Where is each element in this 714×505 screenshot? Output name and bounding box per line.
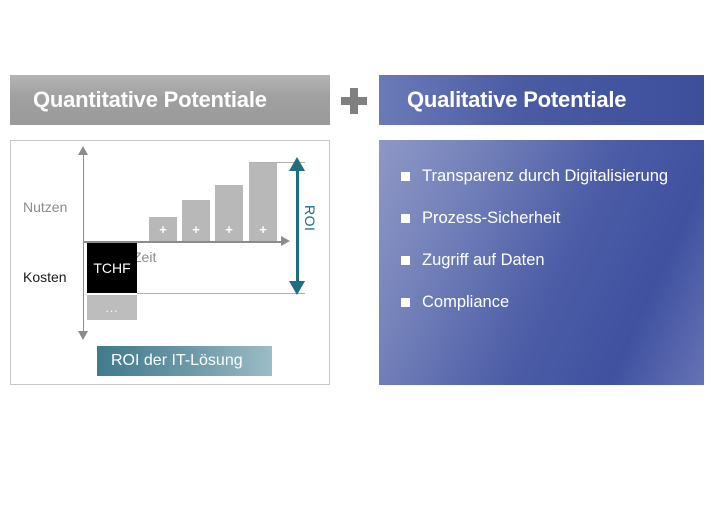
cost-bar-secondary: ... xyxy=(87,295,137,320)
roi-chart-container: Nutzen Kosten Zeit + + + + TCHF ... xyxy=(10,140,330,385)
quantitative-header-title: Quantitative Potentiale xyxy=(33,87,267,113)
roi-guide-line-bottom xyxy=(137,293,305,294)
qualitative-header-bar: Qualitative Potentiale xyxy=(379,75,704,125)
y-axis-arrow-down-icon xyxy=(78,331,88,340)
list-item-label: Zugriff auf Daten xyxy=(422,250,545,271)
benefit-bar-1: + xyxy=(149,217,177,241)
y-axis-label-cost: Kosten xyxy=(23,269,67,285)
roi-banner-label: ROI der IT-Lösung xyxy=(111,352,243,370)
list-item: Transparenz durch Digitalisierung xyxy=(401,166,684,187)
list-item-label: Compliance xyxy=(422,292,509,313)
list-item: Prozess-Sicherheit xyxy=(401,208,684,229)
benefit-bar-plus-label: + xyxy=(225,223,233,241)
benefit-bar-plus-label: + xyxy=(192,223,200,241)
square-bullet-icon xyxy=(401,172,410,181)
qualitative-panel: Qualitative Potentiale Transparenz durch… xyxy=(379,75,704,125)
qualitative-header-title: Qualitative Potentiale xyxy=(407,87,626,113)
y-axis-line xyxy=(83,153,84,338)
plus-icon xyxy=(341,88,367,114)
cost-bar-secondary-label: ... xyxy=(105,302,118,314)
x-axis-arrow-right-icon xyxy=(281,236,290,246)
list-item: Zugriff auf Daten xyxy=(401,250,684,271)
benefit-bar-plus-label: + xyxy=(159,223,167,241)
roi-arrow-label: ROI xyxy=(302,205,318,231)
square-bullet-icon xyxy=(401,298,410,307)
roi-arrow-shaft xyxy=(296,165,299,287)
qualitative-bullet-list: Transparenz durch Digitalisierung Prozes… xyxy=(379,140,704,385)
square-bullet-icon xyxy=(401,214,410,223)
quantitative-panel: Quantitative Potentiale Nutzen Kosten Ze… xyxy=(10,75,330,125)
list-item-label: Prozess-Sicherheit xyxy=(422,208,560,229)
benefit-bar-3: + xyxy=(215,185,243,241)
roi-arrow-down-icon xyxy=(289,281,305,295)
benefit-bar-plus-label: + xyxy=(259,223,267,241)
benefit-bar-4: + xyxy=(249,163,277,241)
cost-bar-tchf-label: TCHF xyxy=(93,260,130,276)
roi-banner: ROI der IT-Lösung xyxy=(97,346,272,376)
benefit-bar-2: + xyxy=(182,200,210,241)
list-item-label: Transparenz durch Digitalisierung xyxy=(422,166,668,187)
square-bullet-icon xyxy=(401,256,410,265)
quantitative-header-bar: Quantitative Potentiale xyxy=(10,75,330,125)
cost-bar-tchf: TCHF xyxy=(87,243,137,293)
plus-icon-vertical xyxy=(350,88,358,114)
y-axis-label-benefit: Nutzen xyxy=(23,199,67,215)
list-item: Compliance xyxy=(401,292,684,313)
